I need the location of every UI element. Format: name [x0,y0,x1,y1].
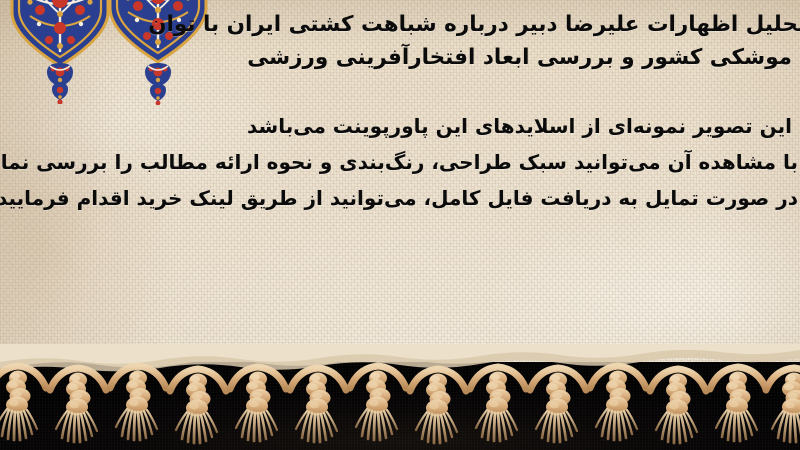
title-line-2: موشکی کشور و بررسی ابعاد افتخارآفرینی ور… [8,41,792,74]
slide-text-layer: تحلیل اظهارات علیرضا دبیر درباره شباهت ک… [0,0,800,388]
body-line-2: با مشاهده آن می‌توانید سبک طراحی، رنگ‌بن… [8,144,798,180]
slide-body: این تصویر نمونه‌ای از اسلایدهای این پاور… [8,108,792,216]
body-line-3: در صورت تمایل به دریافت فایل کامل، می‌تو… [8,180,798,216]
slide-title: تحلیل اظهارات علیرضا دبیر درباره شباهت ک… [8,8,792,74]
black-backdrop [0,362,800,450]
slide-canvas: تحلیل اظهارات علیرضا دبیر درباره شباهت ک… [0,0,800,450]
title-line-1: تحلیل اظهارات علیرضا دبیر درباره شباهت ک… [8,8,800,41]
body-line-1: این تصویر نمونه‌ای از اسلایدهای این پاور… [8,108,792,144]
